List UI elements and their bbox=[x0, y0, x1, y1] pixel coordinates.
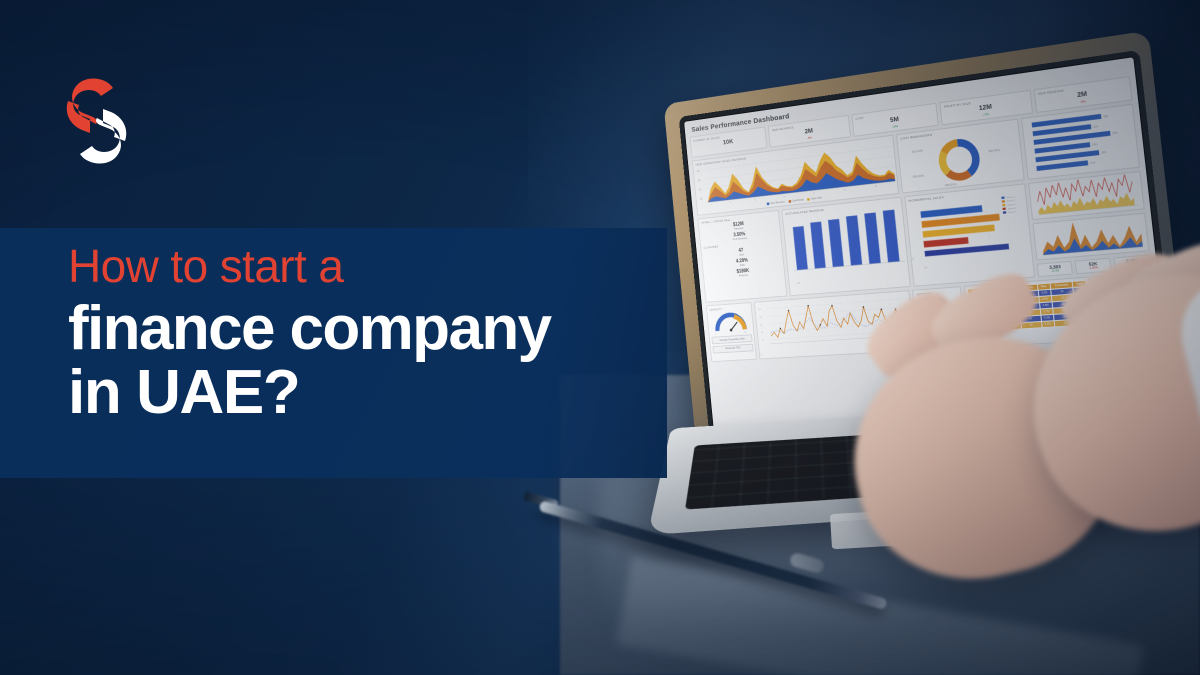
headline-line-3: in UAE? bbox=[68, 361, 668, 425]
headline-line-1: How to start a bbox=[68, 243, 668, 289]
brand-logo[interactable] bbox=[66, 72, 128, 170]
headline-line-2: finance company bbox=[68, 297, 668, 361]
poster-canvas: Sales Performance Dashboard Number of Sa… bbox=[0, 0, 1200, 675]
headline-block: How to start a finance company in UAE? bbox=[68, 243, 668, 426]
split-s-monogram-logo bbox=[66, 72, 128, 170]
